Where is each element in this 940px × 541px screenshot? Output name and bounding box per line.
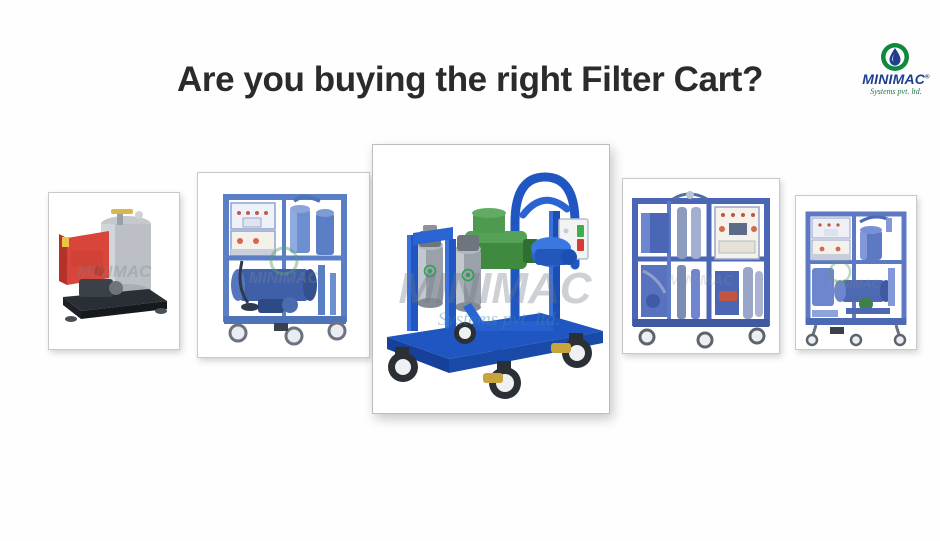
product-card-2[interactable]: MINIMAC Blue framed oil filtration machi…	[197, 172, 370, 358]
logo-wordmark-text: MINIMAC	[862, 71, 925, 87]
slide-canvas: Are you buying the right Filter Cart? MI…	[0, 0, 940, 541]
registered-trademark-icon: ®	[925, 74, 930, 80]
logo-wordmark: MINIMAC®	[852, 71, 940, 87]
green-circle-water-droplet-icon	[880, 42, 910, 72]
product-card-1[interactable]: MINIMAC Red and grey portable filtration…	[48, 192, 180, 350]
product-image-2: MINIMAC	[198, 173, 369, 357]
product-image-4: MINIMAC	[623, 179, 779, 353]
product-card-3-featured[interactable]: MINIMAC Systems pvt. ltd. Blue filter ca…	[372, 144, 610, 414]
svg-text:MINIMAC: MINIMAC	[668, 272, 735, 289]
svg-text:MINIMAC: MINIMAC	[828, 277, 881, 291]
product-card-4[interactable]: MINIMAC Blue vacuum dehydration filtrati…	[622, 178, 780, 354]
page-title: Are you buying the right Filter Cart?	[0, 60, 940, 100]
svg-text:Systems pvt. ltd.: Systems pvt. ltd.	[438, 309, 560, 330]
svg-text:MINIMAC: MINIMAC	[398, 264, 592, 313]
svg-text:MINIMAC: MINIMAC	[249, 270, 320, 287]
product-image-5: MINIMAC	[796, 196, 916, 349]
logo-tagline: Systems pvt. ltd.	[852, 87, 940, 96]
product-image-1: MINIMAC	[49, 193, 179, 349]
svg-text:MINIMAC: MINIMAC	[77, 262, 152, 281]
minimac-logo: MINIMAC® Systems pvt. ltd.	[852, 42, 940, 104]
product-image-3: MINIMAC Systems pvt. ltd.	[373, 145, 609, 413]
product-card-5[interactable]: MINIMAC Blue transformer oil filtration …	[795, 195, 917, 350]
